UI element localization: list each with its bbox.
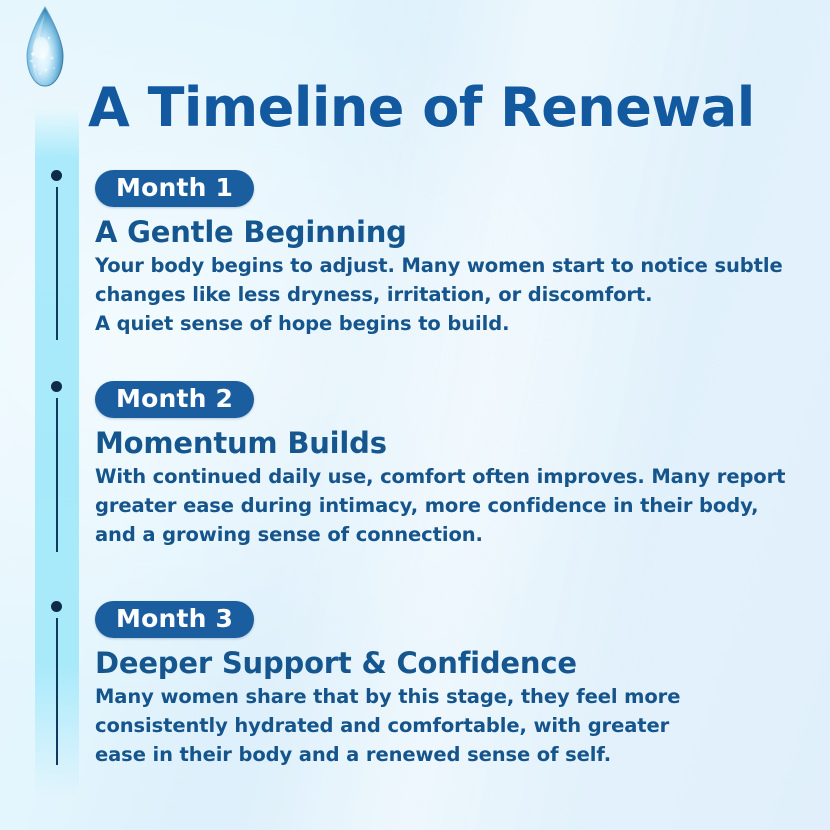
timeline-list: Month 1 A Gentle Beginning Your body beg… — [0, 0, 830, 830]
timeline-dot-icon — [51, 381, 62, 392]
body-line: greater ease during intimacy, more confi… — [95, 492, 810, 521]
infographic-canvas: A Timeline of Renewal Month 1 A Gentle B… — [0, 0, 830, 830]
timeline-item-content: Month 3 Deeper Support & Confidence Many… — [95, 601, 810, 770]
section-heading: A Gentle Beginning — [95, 216, 810, 249]
timeline-connector-line — [56, 398, 58, 552]
body-line: Many women share that by this stage, the… — [95, 683, 810, 712]
timeline-connector-line — [56, 187, 58, 340]
month-badge[interactable]: Month 1 — [95, 170, 254, 207]
month-badge[interactable]: Month 3 — [95, 601, 254, 638]
body-line: Your body begins to adjust. Many women s… — [95, 252, 810, 281]
timeline-item-content: Month 2 Momentum Builds With continued d… — [95, 381, 810, 550]
section-body: Many women share that by this stage, the… — [95, 683, 810, 770]
section-heading: Deeper Support & Confidence — [95, 647, 810, 680]
timeline-dot-icon — [51, 601, 62, 612]
timeline-dot-icon — [51, 170, 62, 181]
month-badge[interactable]: Month 2 — [95, 381, 254, 418]
body-line: ease in their body and a renewed sense o… — [95, 741, 810, 770]
body-line: A quiet sense of hope begins to build. — [95, 310, 810, 339]
section-heading: Momentum Builds — [95, 427, 810, 460]
body-line: With continued daily use, comfort often … — [95, 463, 810, 492]
timeline-item-content: Month 1 A Gentle Beginning Your body beg… — [95, 170, 810, 339]
section-body: Your body begins to adjust. Many women s… — [95, 252, 810, 339]
section-body: With continued daily use, comfort often … — [95, 463, 810, 550]
body-line: consistently hydrated and comfortable, w… — [95, 712, 810, 741]
timeline-connector-line — [56, 618, 58, 765]
body-line: changes like less dryness, irritation, o… — [95, 281, 810, 310]
body-line: and a growing sense of connection. — [95, 521, 810, 550]
